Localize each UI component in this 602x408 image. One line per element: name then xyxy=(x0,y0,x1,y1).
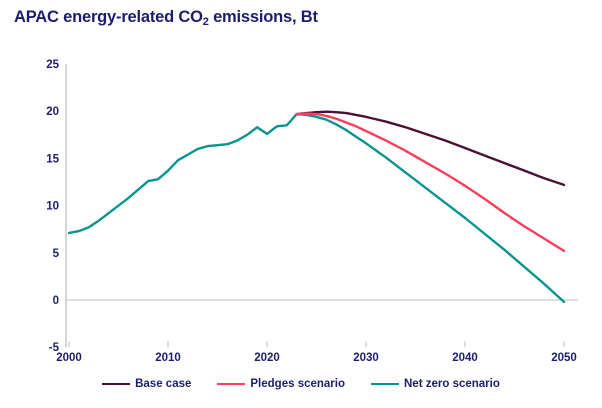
y-axis-tick-label: 25 xyxy=(46,59,59,71)
legend-swatch-icon xyxy=(371,383,399,386)
y-axis-tick-label: 5 xyxy=(53,248,60,260)
legend-item-label: Net zero scenario xyxy=(404,378,500,390)
x-axis-tick-label: 2030 xyxy=(353,352,379,364)
legend-swatch-icon xyxy=(102,383,130,386)
legend-swatch-icon xyxy=(217,383,245,386)
y-axis-tick-label: 10 xyxy=(46,201,59,213)
x-axis-tick-label: 2050 xyxy=(551,352,577,364)
y-axis-tick-label: 15 xyxy=(46,153,59,165)
chart-container: APAC energy-related CO2 emissions, Bt 25… xyxy=(0,0,602,408)
legend-item[interactable]: Pledges scenario xyxy=(217,378,345,390)
legend-item[interactable]: Base case xyxy=(102,378,191,390)
x-axis-tick-label: 2000 xyxy=(56,352,82,364)
x-axis-tick-label: 2020 xyxy=(254,352,280,364)
y-axis-tick-label: 0 xyxy=(53,295,59,307)
y-axis-tick-label: 20 xyxy=(46,106,59,118)
legend-item-label: Pledges scenario xyxy=(250,378,345,390)
series-line-base-case xyxy=(297,112,564,185)
line-chart-plot: 2520151050-5200020102020203020402050 xyxy=(0,0,602,408)
chart-legend: Base casePledges scenarioNet zero scenar… xyxy=(0,378,602,390)
legend-item-label: Base case xyxy=(135,378,191,390)
x-axis-tick-label: 2040 xyxy=(452,352,478,364)
series-line-net-zero-scenario xyxy=(69,114,564,302)
legend-item[interactable]: Net zero scenario xyxy=(371,378,500,390)
x-axis-tick-label: 2010 xyxy=(155,352,181,364)
series-line-pledges-scenario xyxy=(297,114,564,251)
